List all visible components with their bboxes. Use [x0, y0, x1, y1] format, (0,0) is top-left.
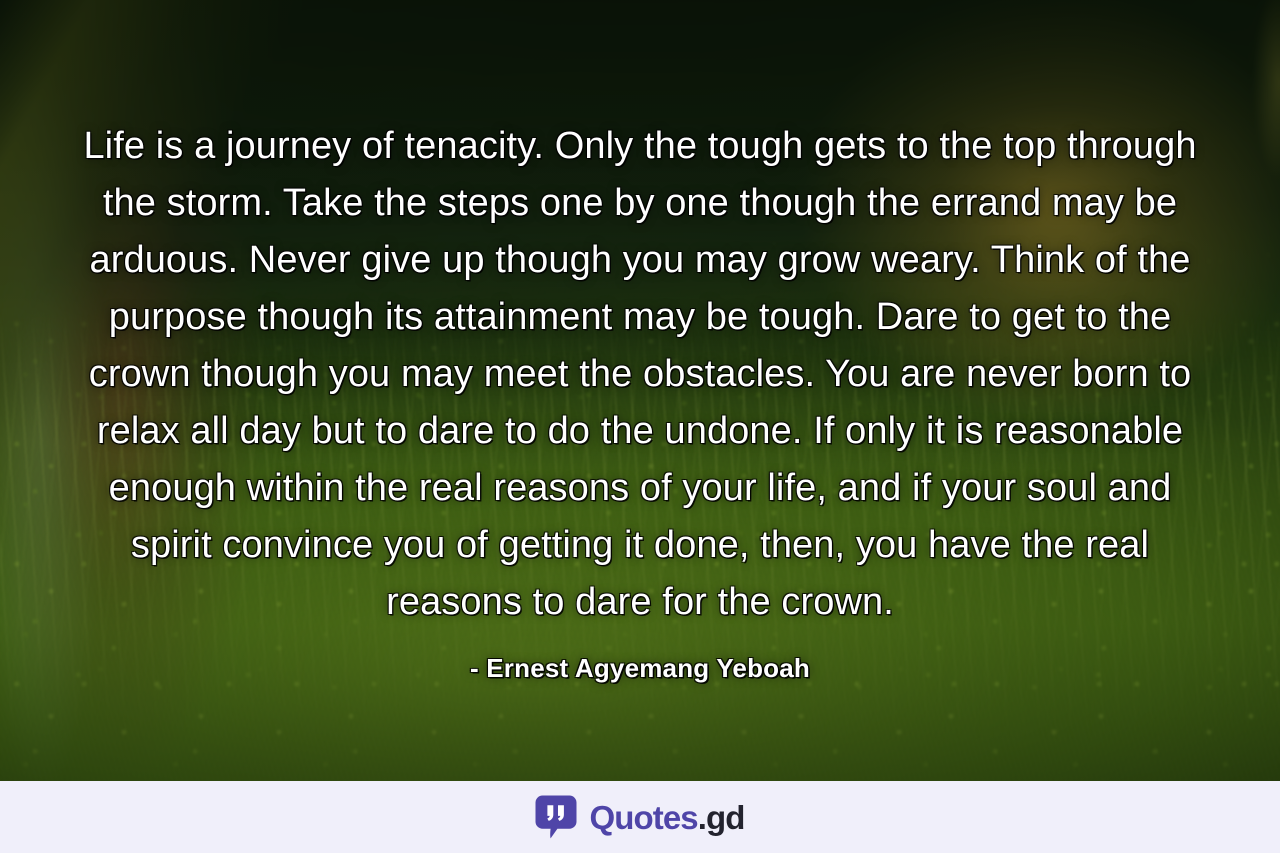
- quote-author: - Ernest Agyemang Yeboah: [78, 653, 1202, 684]
- quote-text: Life is a journey of tenacity. Only the …: [78, 118, 1202, 631]
- brand-name: Quotes: [589, 799, 697, 836]
- quote-block: Life is a journey of tenacity. Only the …: [0, 118, 1280, 684]
- quote-card: Life is a journey of tenacity. Only the …: [0, 0, 1280, 781]
- quote-page: Life is a journey of tenacity. Only the …: [0, 0, 1280, 853]
- quote-bubble-icon: [535, 795, 577, 839]
- brand-wordmark: Quotes.gd: [589, 801, 744, 834]
- brand-logo-link[interactable]: Quotes.gd: [535, 795, 744, 839]
- footer-bar: Quotes.gd: [0, 781, 1280, 853]
- brand-tld: .gd: [698, 799, 745, 836]
